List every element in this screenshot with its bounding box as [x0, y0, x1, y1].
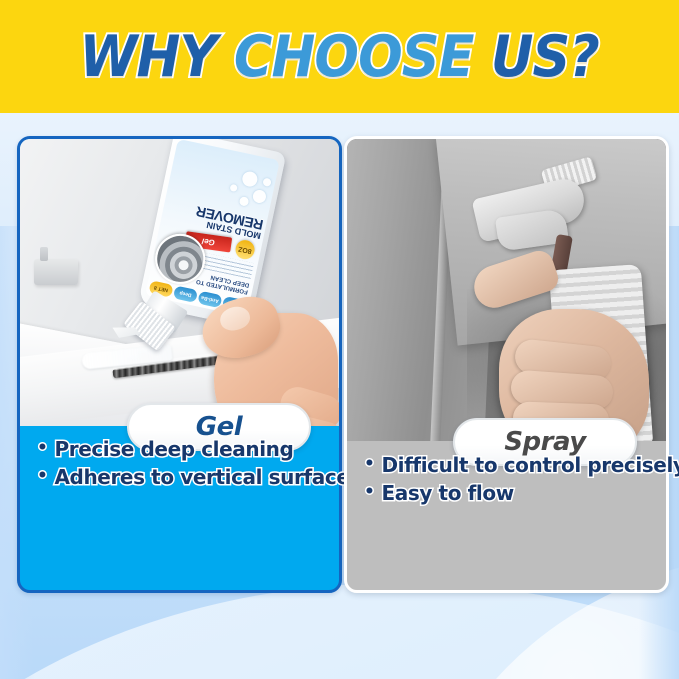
list-item-label: Precise deep cleaning [54, 435, 293, 463]
comparison-card-gel: Power Anti-Ba Deep NET 8 FORMULATED TO D… [17, 136, 342, 593]
list-item: • Easy to flow [364, 479, 649, 507]
title-word-why: WHY [80, 24, 217, 90]
list-item: • Precise deep cleaning [37, 435, 322, 463]
list-item: • Adheres to vertical surfaces [37, 463, 322, 491]
label-badge-deep: Deep [173, 285, 198, 302]
gel-photo: Power Anti-Ba Deep NET 8 FORMULATED TO D… [20, 139, 339, 426]
hand-gripping-spray-bottle [459, 247, 666, 441]
list-item-label: Difficult to control precisely [381, 451, 679, 479]
spray-drawbacks-list: • Difficult to control precisely • Easy … [347, 451, 666, 508]
bullet-dot-icon: • [37, 463, 47, 489]
header-banner: WHY CHOOSE US? [0, 0, 679, 113]
label-bubbles-graphic [208, 153, 276, 210]
comparison-card-spray: Spray • Difficult to control precisely •… [344, 136, 669, 593]
hand-index-finger [469, 247, 562, 313]
infographic-poster: WHY CHOOSE US? Power Anti-Ba [0, 0, 679, 679]
spray-photo [347, 139, 666, 441]
list-item-label: Adheres to vertical surfaces [54, 463, 361, 491]
wall-bracket [34, 259, 78, 285]
gel-benefits-list: • Precise deep cleaning • Adheres to ver… [20, 435, 339, 492]
page-title: WHY CHOOSE US? [80, 29, 599, 86]
bullet-dot-icon: • [364, 451, 374, 477]
title-word-us: US? [491, 24, 599, 90]
bullet-dot-icon: • [364, 479, 374, 505]
label-size-badge: 8OZ [234, 238, 257, 261]
list-item-label: Easy to flow [381, 479, 513, 507]
bullet-dot-icon: • [37, 435, 47, 461]
list-item: • Difficult to control precisely [364, 451, 649, 479]
title-word-choose: CHOOSE [234, 24, 474, 90]
